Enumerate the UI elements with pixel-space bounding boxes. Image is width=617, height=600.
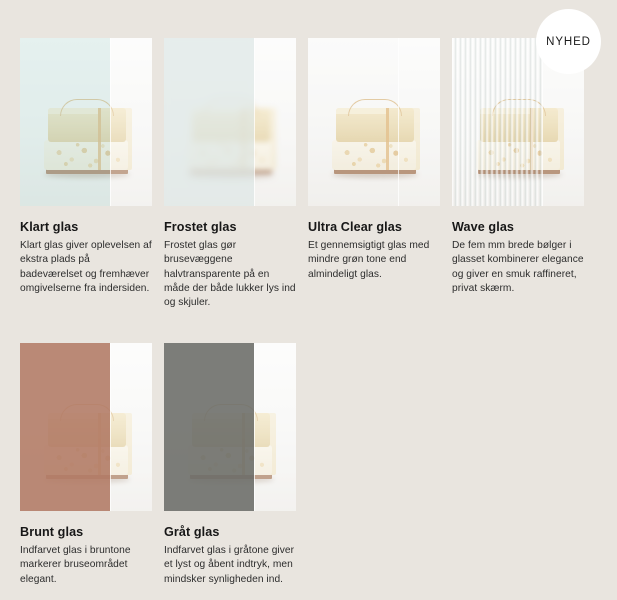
glass-caption: Ultra Clear glas Et gennemsigtigt glas m… — [308, 220, 440, 282]
glass-caption: Gråt glas Indfarvet glas i gråtone giver… — [164, 525, 296, 587]
glass-title: Brunt glas — [20, 525, 152, 540]
glass-caption: Brunt glas Indfarvet glas i bruntone mar… — [20, 525, 152, 587]
glass-caption: Klart glas Klart glas giver oplevelsen a… — [20, 220, 152, 296]
glass-card-klart-glas[interactable]: Klart glas Klart glas giver oplevelsen a… — [20, 38, 152, 310]
glass-row-2: Brunt glas Indfarvet glas i bruntone mar… — [20, 343, 590, 587]
glass-caption: Wave glas De fem mm brede bølger i glass… — [452, 220, 584, 296]
soap-stack-illustration — [186, 94, 274, 174]
glass-description: Klart glas giver oplevelsen af ekstra pl… — [20, 239, 152, 296]
glass-card-graat-glas[interactable]: Gråt glas Indfarvet glas i gråtone giver… — [164, 343, 296, 587]
nyhed-badge-label: NYHED — [546, 36, 591, 48]
glass-card-brunt-glas[interactable]: Brunt glas Indfarvet glas i bruntone mar… — [20, 343, 152, 587]
glass-title: Wave glas — [452, 220, 584, 235]
glass-title: Ultra Clear glas — [308, 220, 440, 235]
glass-description: Indfarvet glas i gråtone giver et lyst o… — [164, 544, 296, 587]
glass-description: Indfarvet glas i bruntone markerer bruse… — [20, 544, 152, 587]
glass-thumbnail-brunt-glas[interactable] — [20, 343, 152, 511]
soap-stack-illustration — [42, 94, 130, 174]
glass-thumbnail-ultra-clear-glas[interactable] — [308, 38, 440, 206]
soap-stack-illustration — [330, 94, 418, 174]
soap-stack-illustration — [42, 399, 130, 479]
glass-card-ultra-clear-glas[interactable]: Ultra Clear glas Et gennemsigtigt glas m… — [308, 38, 440, 310]
glass-row-1: Klart glas Klart glas giver oplevelsen a… — [20, 38, 590, 310]
soap-stack-illustration — [186, 399, 274, 479]
soap-stack-illustration — [474, 94, 562, 174]
glass-options-grid: Klart glas Klart glas giver oplevelsen a… — [20, 38, 590, 587]
glass-thumbnail-graat-glas[interactable] — [164, 343, 296, 511]
nyhed-badge[interactable]: NYHED — [536, 9, 601, 74]
glass-caption: Frostet glas Frostet glas gør brusevægge… — [164, 220, 296, 310]
glass-thumbnail-frostet-glas[interactable] — [164, 38, 296, 206]
glass-card-frostet-glas[interactable]: Frostet glas Frostet glas gør brusevægge… — [164, 38, 296, 310]
glass-title: Frostet glas — [164, 220, 296, 235]
glass-description: Frostet glas gør brusevæggene halvtransp… — [164, 239, 296, 310]
glass-description: Et gennemsigtigt glas med mindre grøn to… — [308, 239, 440, 282]
page-root: NYHED — [0, 0, 617, 600]
glass-thumbnail-klart-glas[interactable] — [20, 38, 152, 206]
glass-description: De fem mm brede bølger i glasset kombine… — [452, 239, 584, 296]
glass-title: Klart glas — [20, 220, 152, 235]
glass-title: Gråt glas — [164, 525, 296, 540]
glass-card-wave-glas[interactable]: Wave glas De fem mm brede bølger i glass… — [452, 38, 584, 310]
